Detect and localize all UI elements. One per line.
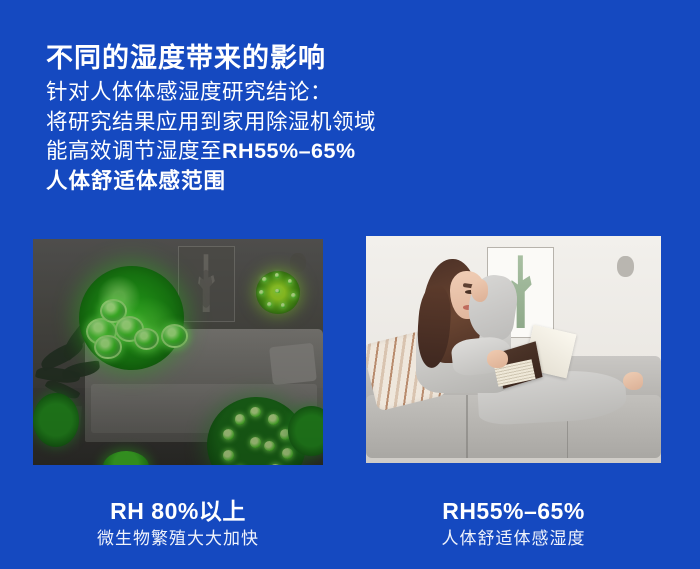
body-line-3-highlight: RH55%–65% [222,139,356,163]
caption-comfort-humidity-title: RH55%–65% [366,497,661,526]
photo-high-humidity [33,239,323,465]
caption-high-humidity-subtitle: 微生物繁殖大大加快 [33,526,323,551]
coccus [94,335,122,360]
wall-knob-dark [290,253,306,272]
humidity-infographic-poster: 不同的湿度带来的影响 针对人体体感湿度研究结论： 将研究结果应用到家用除湿机领域… [0,0,700,569]
dark-sofa-cushion [269,343,316,386]
microbe-small-left [33,393,79,447]
photo-comfort-humidity [366,236,661,463]
body-line-2: 将研究结果应用到家用除湿机领域 [46,108,376,138]
microbe-cluster-large [79,266,183,370]
sofa-seam [466,395,468,459]
photo-high-humidity-scene [33,239,323,465]
body-line-3: 能高效调节湿度至RH55%–65% [46,137,376,167]
photo-comfort-humidity-scene [366,236,661,463]
cactus-artwork-icon [194,254,217,312]
caption-high-humidity-title: RH 80%以上 [33,497,323,526]
coccus [134,328,159,350]
microbe-virus-upper [256,271,300,314]
caption-comfort-humidity-subtitle: 人体舒适体感湿度 [366,526,661,551]
page-title: 不同的湿度带来的影响 [46,36,326,75]
woman-hand-at-head [471,279,489,302]
caption-comfort-humidity: RH55%–65% 人体舒适体感湿度 [366,497,661,551]
body-line-4: 人体舒适体感范围 [46,167,376,197]
woman-foot [623,372,644,390]
body-line-3-normal: 能高效调节湿度至 [46,139,222,163]
caption-high-humidity: RH 80%以上 微生物繁殖大大加快 [33,497,323,551]
wall-art-frame-dark [178,246,235,323]
body-line-1: 针对人体体感湿度研究结论： [46,78,376,108]
coccus [161,324,188,348]
body-copy: 针对人体体感湿度研究结论： 将研究结果应用到家用除湿机领域 能高效调节湿度至RH… [46,78,376,196]
woman-hand-on-book [487,350,508,368]
